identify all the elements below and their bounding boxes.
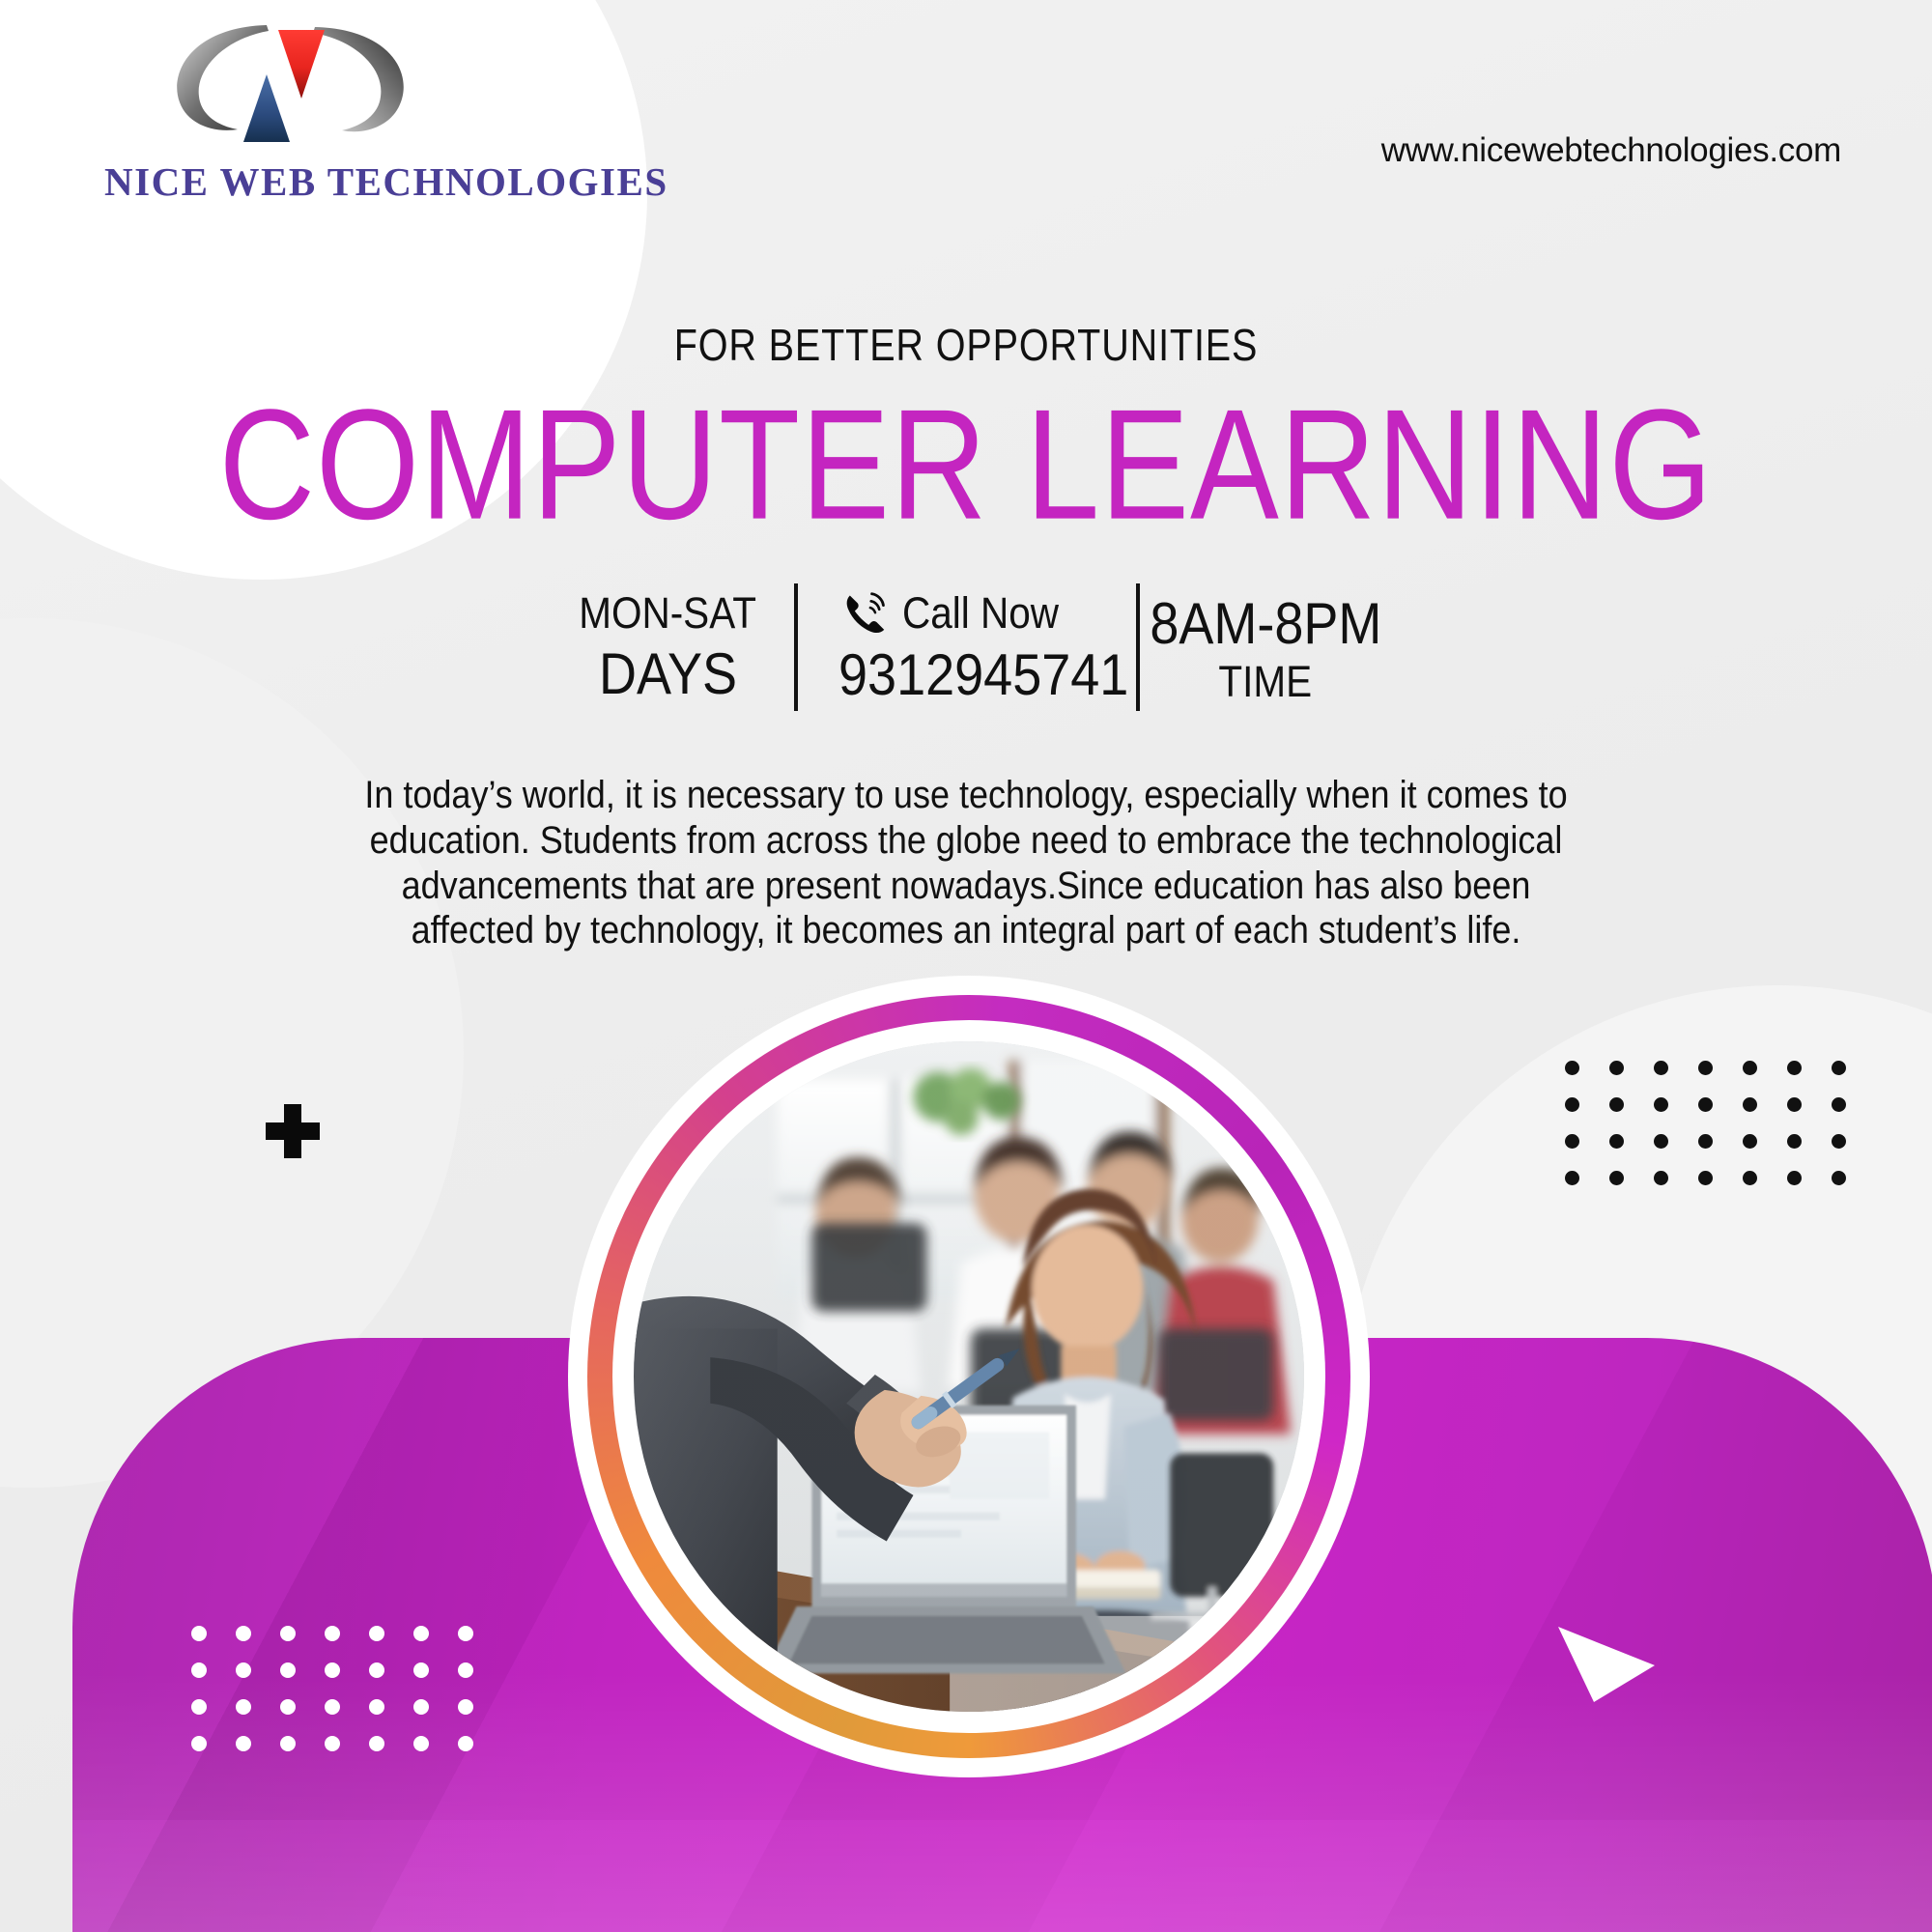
dot: [413, 1626, 429, 1641]
dot: [280, 1662, 296, 1678]
contact-time: 8AM-8PM TIME: [1140, 580, 1391, 715]
dot: [1698, 1171, 1713, 1185]
dot: [1743, 1097, 1757, 1112]
plus-mark-icon: [266, 1104, 320, 1158]
contact-call[interactable]: Call Now 9312945741: [798, 580, 1136, 715]
dot: [1565, 1134, 1579, 1149]
dot: [1832, 1061, 1846, 1075]
call-number[interactable]: 9312945741: [838, 641, 1128, 708]
dot: [413, 1736, 429, 1751]
classroom-photo: [634, 1041, 1304, 1712]
dot: [1743, 1171, 1757, 1185]
poster-canvas: NICE WEB TECHNOLOGIES www.nicewebtechnol…: [0, 0, 1932, 1932]
dot: [1787, 1097, 1802, 1112]
dot: [1698, 1097, 1713, 1112]
brand-logo[interactable]: NICE WEB TECHNOLOGIES: [104, 14, 549, 236]
dot: [1565, 1061, 1579, 1075]
dot: [191, 1736, 207, 1751]
dot: [325, 1699, 340, 1715]
dot: [191, 1699, 207, 1715]
dot: [1565, 1097, 1579, 1112]
dot: [191, 1662, 207, 1678]
dot: [280, 1626, 296, 1641]
dot: [1832, 1097, 1846, 1112]
dot: [1609, 1171, 1624, 1185]
body-paragraph: In today’s world, it is necessary to use…: [357, 773, 1575, 953]
dot: [369, 1662, 384, 1678]
dot: [280, 1736, 296, 1751]
dot-grid-dark: [1565, 1061, 1876, 1207]
dot: [1654, 1061, 1668, 1075]
dot: [369, 1699, 384, 1715]
play-triangle-icon: [1553, 1596, 1660, 1702]
dot: [325, 1662, 340, 1678]
days-label: DAYS: [598, 640, 736, 707]
time-label: TIME: [1219, 657, 1313, 707]
dot: [1654, 1171, 1668, 1185]
call-label: Call Now: [902, 588, 1059, 639]
dot: [236, 1699, 251, 1715]
website-url[interactable]: www.nicewebtechnologies.com: [1381, 131, 1841, 170]
dot: [1743, 1061, 1757, 1075]
dot: [369, 1626, 384, 1641]
classroom-photo-illustration: [634, 1041, 1304, 1712]
phone-ringing-icon: [838, 587, 891, 639]
dot: [280, 1699, 296, 1715]
dot: [1565, 1171, 1579, 1185]
dot: [236, 1736, 251, 1751]
contact-days: MON-SAT DAYS: [541, 580, 794, 715]
contact-strip: MON-SAT DAYS Call Now 9312945741 8AM-8PM…: [541, 580, 1391, 715]
dot: [413, 1699, 429, 1715]
hero-headline: COMPUTER LEARNING: [48, 386, 1884, 543]
dot: [1787, 1171, 1802, 1185]
dot: [1609, 1061, 1624, 1075]
dot: [369, 1736, 384, 1751]
dot: [236, 1626, 251, 1641]
dot: [1787, 1134, 1802, 1149]
dot: [191, 1626, 207, 1641]
dot: [1787, 1061, 1802, 1075]
dot: [413, 1662, 429, 1678]
photo-gradient-ring: [587, 995, 1350, 1758]
dot: [1654, 1097, 1668, 1112]
dot-grid-light: [191, 1626, 502, 1773]
hero-eyebrow: FOR BETTER OPPORTUNITIES: [135, 319, 1797, 371]
brand-logo-text: NICE WEB TECHNOLOGIES: [104, 158, 510, 205]
dot: [1698, 1061, 1713, 1075]
dot: [458, 1662, 473, 1678]
time-value: 8AM-8PM: [1150, 590, 1381, 657]
dot: [1832, 1134, 1846, 1149]
dot: [325, 1626, 340, 1641]
dot: [1654, 1134, 1668, 1149]
dot: [1609, 1134, 1624, 1149]
dot: [236, 1662, 251, 1678]
dot: [458, 1736, 473, 1751]
nice-web-n-mark-icon: [124, 14, 452, 158]
photo-white-ring: [612, 1020, 1325, 1733]
dot: [1698, 1134, 1713, 1149]
dot: [1743, 1134, 1757, 1149]
days-value: MON-SAT: [579, 588, 756, 639]
dot: [458, 1699, 473, 1715]
dot: [325, 1736, 340, 1751]
dot: [1609, 1097, 1624, 1112]
dot: [458, 1626, 473, 1641]
dot: [1832, 1171, 1846, 1185]
